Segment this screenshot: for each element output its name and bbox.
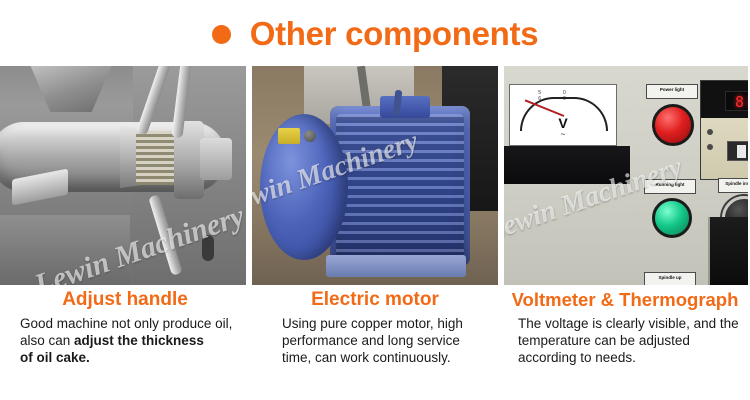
caption-line-2b: adjust the thickness <box>74 333 204 348</box>
caption-row: Adjust handle Good machine not only prod… <box>0 288 750 400</box>
barrel-tip <box>200 138 232 180</box>
caption-electric-motor: Electric motor Using pure copper motor, … <box>250 288 500 400</box>
panel-image-control-panel: 50 60 V ~ Power light 888 Running light … <box>504 66 748 285</box>
caption-title: Electric motor <box>250 288 500 312</box>
threaded-shaft <box>136 131 176 185</box>
caption-line-3: according to needs. <box>518 350 636 365</box>
digital-thermograph[interactable]: 888 <box>700 80 748 180</box>
image-panel-row: Lewin Machinery Lewin Machinery 50 60 <box>0 66 750 285</box>
running-light-tag: Running light <box>644 179 696 194</box>
thermograph-status-leds <box>707 129 721 163</box>
running-indicator-light[interactable] <box>652 198 692 238</box>
voltmeter-ac-symbol: ~ <box>510 130 616 139</box>
feed-hopper <box>28 66 114 112</box>
thermograph-dip-switches[interactable] <box>727 141 748 161</box>
panel-slot <box>202 235 214 261</box>
panel-image-electric-motor: Lewin Machinery <box>252 66 498 285</box>
caption-title: Voltmeter & Thermograph <box>500 288 750 312</box>
caption-line-2: performance and long service <box>282 333 460 348</box>
caption-line-3: time, can work continuously. <box>282 350 451 365</box>
panel-side-box <box>708 217 748 285</box>
caption-line-2: temperature can be adjusted <box>518 333 690 348</box>
panel-image-adjust-handle: Lewin Machinery <box>0 66 246 285</box>
caption-line-1: The voltage is clearly visible, and the <box>518 316 739 331</box>
power-light-tag: Power light <box>646 84 698 99</box>
panel-dark-strip <box>504 146 630 184</box>
motor-base-foot <box>326 255 466 277</box>
spindle-up-tag: Spindle up <box>644 272 696 285</box>
caption-adjust-handle: Adjust handle Good machine not only prod… <box>0 288 250 400</box>
voltmeter-unit-label: V <box>510 115 616 131</box>
caption-body: The voltage is clearly visible, and the … <box>500 315 750 366</box>
caption-voltmeter-thermograph: Voltmeter & Thermograph The voltage is c… <box>500 288 750 400</box>
page-title: Other components <box>250 17 539 50</box>
motor-junction-box <box>380 96 430 118</box>
thermograph-display: 888 <box>725 91 748 111</box>
bullet-dot-icon <box>212 25 231 44</box>
page-header: Other components <box>0 8 750 58</box>
motor-cooling-fins <box>336 114 464 258</box>
machine-frame <box>0 215 130 285</box>
caption-body: Using pure copper motor, high performanc… <box>250 315 500 366</box>
caption-line-2a: also can <box>20 333 74 348</box>
infographic-page: Other components Lewin Machinery <box>0 0 750 400</box>
motor-cap <box>304 130 316 142</box>
spindle-inversion-tag: Spindle inversion <box>718 178 748 193</box>
caption-title: Adjust handle <box>0 288 250 312</box>
caption-line-1: Using pure copper motor, high <box>282 316 463 331</box>
motor-nameplate-label <box>278 128 300 144</box>
analog-voltmeter: 50 60 V ~ <box>509 84 617 146</box>
power-indicator-light[interactable] <box>652 104 694 146</box>
caption-body: Good machine not only produce oil, also … <box>0 315 250 366</box>
caption-line-1: Good machine not only produce oil, <box>20 316 232 331</box>
caption-line-3: of oil cake. <box>20 350 90 365</box>
